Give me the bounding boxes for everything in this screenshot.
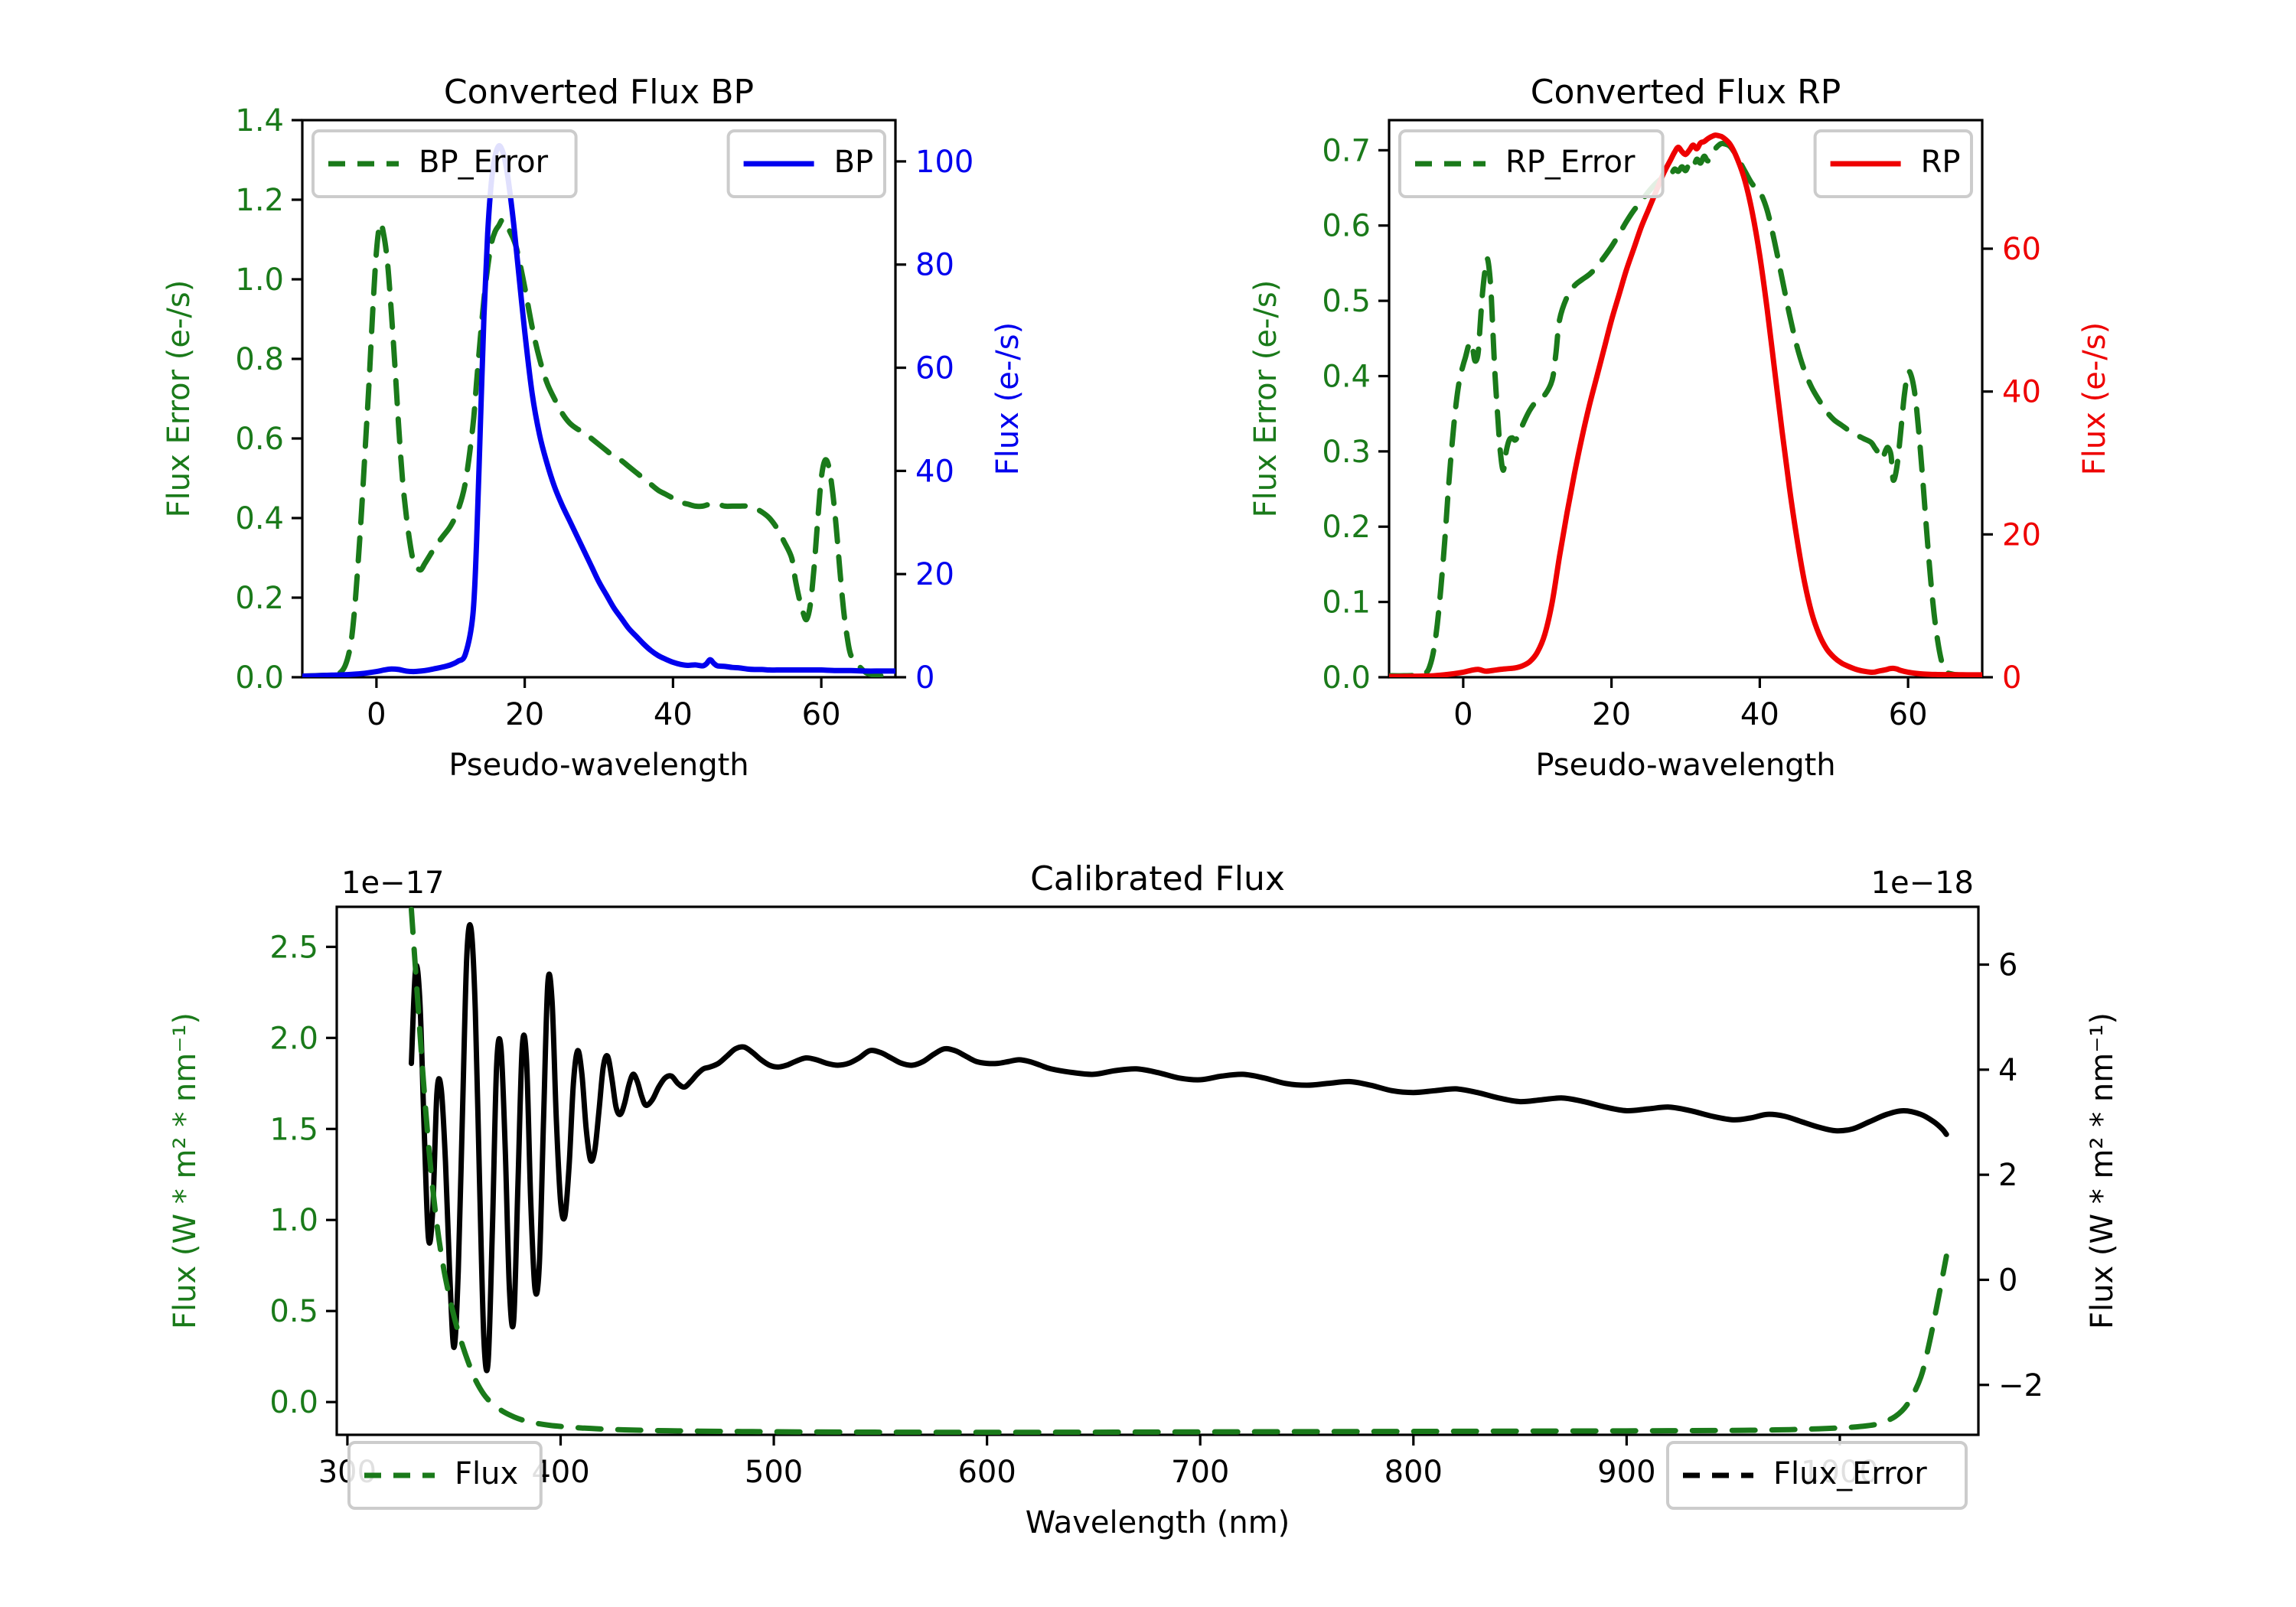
y-tick-label-left: 0.0 — [269, 1385, 318, 1420]
series-line-flux — [412, 924, 1947, 1371]
converted-flux-rp-svg: Converted Flux RP0204060Pseudo-wavelengt… — [1225, 73, 2158, 830]
y-tick-label-right: −2 — [1998, 1368, 2043, 1403]
series-line-rp — [1389, 135, 1982, 676]
y-tick-label-left: 0.6 — [235, 422, 284, 457]
x-tick-label: 600 — [957, 1455, 1016, 1490]
converted-flux-bp-svg: Converted Flux BP0204060Pseudo-wavelengt… — [138, 73, 1071, 830]
y-tick-label-right: 4 — [1998, 1053, 2017, 1088]
x-tick-label: 0 — [1453, 697, 1473, 732]
y-tick-label-left: 0.7 — [1322, 133, 1371, 168]
y-tick-label-right: 6 — [1998, 948, 2017, 983]
y-tick-label-right: 0 — [2002, 660, 2021, 696]
legend-label: BP_Error — [419, 145, 549, 180]
legend-calibrated-flux-right[interactable]: Flux_Error — [1668, 1442, 1966, 1508]
y-tick-label-left: 2.0 — [269, 1021, 318, 1056]
panel-converted-flux-bp: Converted Flux BP0204060Pseudo-wavelengt… — [138, 73, 1071, 830]
chart-title: Converted Flux BP — [444, 73, 754, 112]
legend-converted-flux-rp-left[interactable]: RP_Error — [1400, 131, 1663, 197]
y-tick-label-left: 0.3 — [1322, 435, 1371, 470]
legend-label: Flux — [455, 1456, 518, 1491]
x-tick-label: 0 — [367, 697, 386, 732]
chart-title: Converted Flux RP — [1531, 73, 1841, 112]
y-tick-label-left: 0.0 — [1322, 660, 1371, 696]
y-tick-label-right: 20 — [2002, 517, 2041, 553]
x-tick-label: 900 — [1597, 1455, 1655, 1490]
y-tick-label-right: 40 — [915, 454, 954, 489]
y-tick-label-left: 1.0 — [269, 1203, 318, 1238]
y-tick-label-left: 0.2 — [235, 581, 284, 616]
y-tick-label-right: 40 — [2002, 375, 2041, 410]
y-tick-label-right: 0 — [915, 660, 934, 696]
y-exponent-left: 1e−17 — [341, 865, 444, 901]
legend-label: RP — [1921, 145, 1961, 180]
legend-label: Flux_Error — [1773, 1456, 1927, 1491]
y-tick-label-right: 20 — [915, 557, 954, 592]
x-tick-label: 800 — [1384, 1455, 1443, 1490]
x-tick-label: 20 — [1592, 697, 1631, 732]
plot-frame — [1389, 120, 1982, 677]
y-tick-label-right: 60 — [915, 351, 954, 386]
y-tick-label-left: 0.0 — [235, 660, 284, 696]
y-tick-label-right: 100 — [915, 145, 974, 180]
x-tick-label: 700 — [1171, 1455, 1229, 1490]
y-axis-label-right: Flux (W * m² * nm⁻¹) — [2085, 1012, 2120, 1329]
chart-title: Calibrated Flux — [1030, 859, 1285, 898]
x-tick-label: 500 — [745, 1455, 803, 1490]
x-axis-label: Wavelength (nm) — [1026, 1505, 1290, 1540]
y-tick-label-left: 0.5 — [269, 1294, 318, 1329]
y-tick-label-right: 2 — [1998, 1158, 2017, 1193]
y-tick-label-left: 0.6 — [1322, 209, 1371, 244]
y-tick-label-left: 0.8 — [235, 342, 284, 377]
y-tick-label-right: 80 — [915, 248, 954, 283]
legend-label: BP — [834, 145, 874, 180]
y-axis-label-right: Flux (e-/s) — [2077, 322, 2112, 475]
y-axis-label-right: Flux (e-/s) — [990, 322, 1026, 475]
panel-converted-flux-rp: Converted Flux RP0204060Pseudo-wavelengt… — [1225, 73, 2158, 830]
y-tick-label-right: 60 — [2002, 232, 2041, 267]
x-tick-label: 40 — [1740, 697, 1779, 732]
x-axis-label: Pseudo-wavelength — [1535, 748, 1835, 783]
y-tick-label-left: 1.5 — [269, 1112, 318, 1147]
y-tick-label-right: 0 — [1998, 1263, 2017, 1298]
x-tick-label: 20 — [505, 697, 544, 732]
series-line-bp_error — [302, 220, 895, 676]
legend-converted-flux-bp-right[interactable]: BP — [729, 131, 885, 197]
y-tick-label-left: 1.4 — [235, 103, 284, 139]
legend-converted-flux-rp-right[interactable]: RP — [1815, 131, 1971, 197]
y-axis-label-left: Flux (W * m² * nm⁻¹) — [168, 1012, 203, 1329]
x-tick-label: 60 — [1889, 697, 1928, 732]
y-tick-label-left: 2.5 — [269, 930, 318, 965]
plot-frame — [337, 907, 1978, 1435]
legend-calibrated-flux-left[interactable]: Flux — [349, 1442, 541, 1508]
y-tick-label-left: 0.2 — [1322, 510, 1371, 545]
y-tick-label-left: 1.0 — [235, 262, 284, 298]
y-exponent-right: 1e−18 — [1871, 865, 1974, 901]
y-axis-label-left: Flux Error (e-/s) — [1248, 280, 1283, 518]
x-axis-label: Pseudo-wavelength — [448, 748, 748, 783]
x-tick-label: 40 — [654, 697, 693, 732]
y-tick-label-left: 0.1 — [1322, 585, 1371, 621]
x-tick-label: 60 — [802, 697, 841, 732]
y-tick-label-left: 0.4 — [1322, 359, 1371, 394]
y-tick-label-left: 0.5 — [1322, 284, 1371, 319]
plot-frame — [302, 120, 895, 677]
calibrated-flux-svg: Calibrated Flux3004005006007008009001000… — [138, 834, 2158, 1599]
legend-label: RP_Error — [1505, 145, 1636, 180]
y-tick-label-left: 0.4 — [235, 501, 284, 536]
legend-converted-flux-bp-left[interactable]: BP_Error — [313, 131, 576, 197]
y-tick-label-left: 1.2 — [235, 183, 284, 218]
y-axis-label-left: Flux Error (e-/s) — [161, 280, 197, 518]
panel-calibrated-flux: Calibrated Flux3004005006007008009001000… — [138, 834, 2158, 1599]
series-line-flux_error — [412, 909, 1947, 1432]
series-line-bp — [302, 145, 895, 676]
series-line-rp_error — [1389, 143, 1982, 676]
figure-canvas: Converted Flux BP0204060Pseudo-wavelengt… — [0, 0, 2296, 1607]
